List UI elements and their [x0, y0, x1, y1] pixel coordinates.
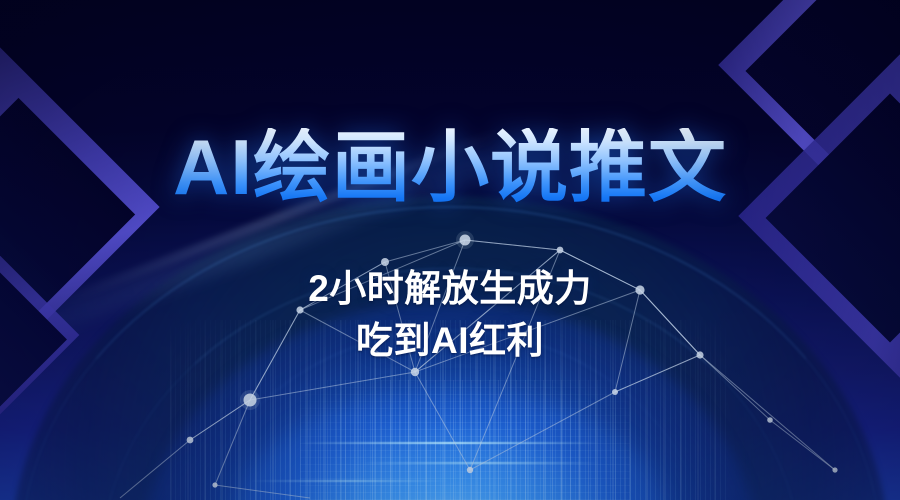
- subtitle-line-1: 2小时解放生成力: [0, 270, 900, 307]
- promo-banner: AI绘画小说推文 2小时解放生成力 吃到AI红利: [0, 0, 900, 500]
- text-layer: AI绘画小说推文 2小时解放生成力 吃到AI红利: [0, 0, 900, 500]
- page-title: AI绘画小说推文: [0, 128, 900, 206]
- subtitle-line-2: 吃到AI红利: [0, 322, 900, 359]
